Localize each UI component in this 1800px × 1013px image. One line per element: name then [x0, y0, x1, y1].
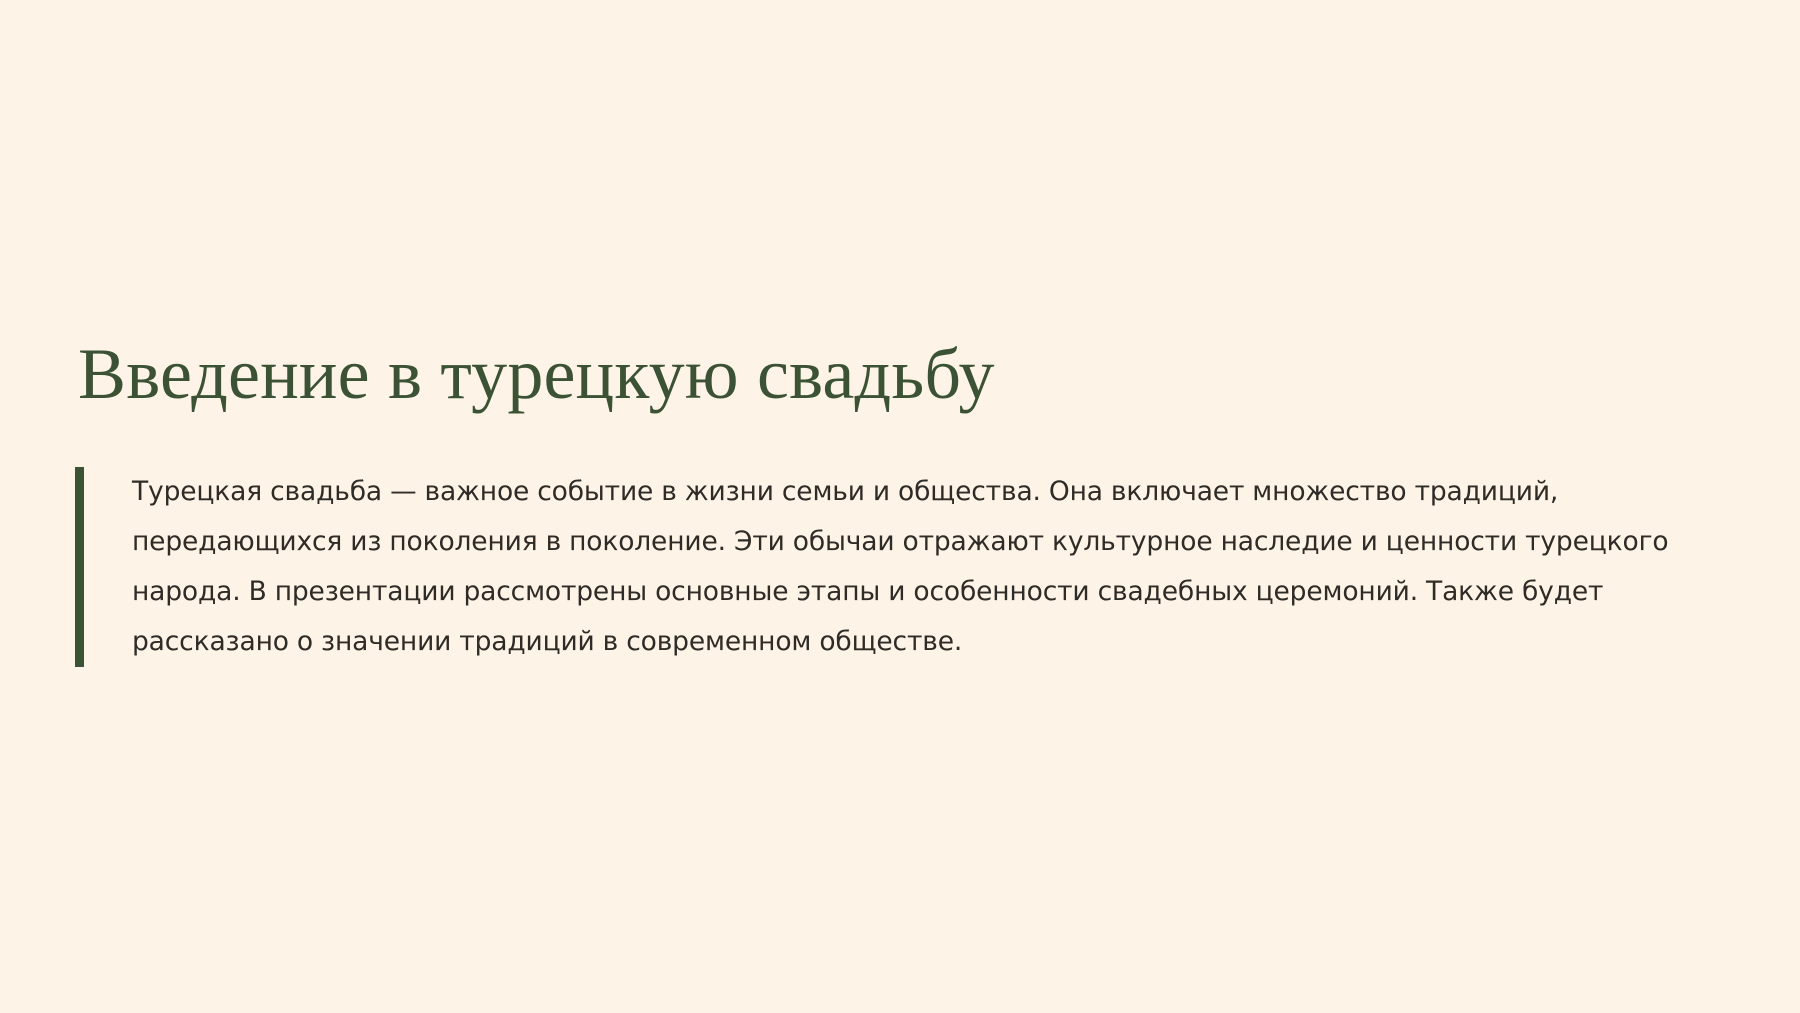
page-title: Введение в турецкую свадьбу: [78, 336, 995, 412]
left-accent-bar: [75, 467, 84, 667]
body-quote-block: Турецкая свадьба — важное событие в жизн…: [75, 467, 1715, 667]
body-text-container: Турецкая свадьба — важное событие в жизн…: [84, 467, 1715, 667]
body-paragraph: Турецкая свадьба — важное событие в жизн…: [132, 467, 1712, 667]
presentation-slide: Введение в турецкую свадьбу Турецкая сва…: [0, 0, 1800, 1013]
